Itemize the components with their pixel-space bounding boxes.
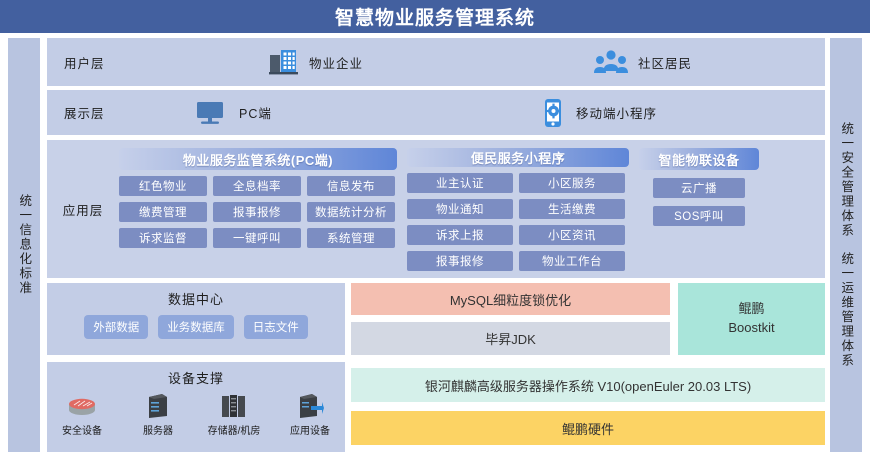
device-item-server: 服务器	[129, 393, 187, 437]
mobile-gear-icon	[542, 98, 564, 128]
page-title: 智慧物业服务管理系统	[335, 3, 535, 30]
user-layer-item-residents: 社区居民	[594, 49, 692, 75]
chip-column: 红色物业 缴费管理 诉求监督	[119, 176, 207, 248]
app-chip[interactable]: 诉求监督	[119, 228, 207, 248]
app-chip[interactable]: 缴费管理	[119, 202, 207, 222]
left-rail-label: 统一信息化标准	[18, 194, 31, 296]
app-group-miniprogram: 便民服务小程序 业主认证 物业通知 诉求上报 报事报修 小区服务 生活缴费 小区…	[407, 148, 629, 270]
page-title-bar: 智慧物业服务管理系统	[0, 0, 870, 33]
device-item-label: 应用设备	[290, 422, 330, 437]
display-layer-label: 展示层	[64, 103, 105, 122]
app-group-supervision-chips: 红色物业 缴费管理 诉求监督 全息档率 报事报修 一键呼叫 信息发布 数据统计分…	[119, 176, 397, 248]
app-chip[interactable]: 业主认证	[407, 173, 513, 193]
device-item-security: 安全设备	[53, 393, 111, 437]
user-layer-row: 用户层 物业企业	[47, 38, 825, 86]
app-chip[interactable]: 小区资讯	[519, 225, 625, 245]
chip-column: 业主认证 物业通知 诉求上报 报事报修	[407, 173, 513, 271]
application-groups: 物业服务监管系统(PC端) 红色物业 缴费管理 诉求监督 全息档率 报事报修 一…	[119, 140, 825, 278]
chip-column: 云广播 SOS呼叫	[639, 176, 759, 226]
device-item-storage: 存储器/机房	[205, 393, 263, 437]
storage-rack-icon	[219, 393, 249, 419]
device-item-label: 服务器	[143, 422, 173, 437]
user-layer-item-enterprise: 物业企业	[269, 48, 363, 76]
server-icon	[145, 393, 171, 419]
application-layer-label-box: 应用层	[47, 140, 119, 278]
data-center-items: 外部数据 业务数据库 日志文件	[84, 315, 308, 339]
chip-column: 信息发布 数据统计分析 系统管理	[307, 176, 395, 248]
app-chip[interactable]: 一键呼叫	[213, 228, 301, 248]
app-chip[interactable]: 诉求上报	[407, 225, 513, 245]
device-support-title: 设备支撑	[168, 368, 224, 387]
hardware-bar: 鲲鹏硬件	[351, 411, 825, 445]
application-layer-row: 应用层 物业服务监管系统(PC端) 红色物业 缴费管理 诉求监督 全息档率 报事…	[47, 140, 825, 278]
app-group-miniprogram-chips: 业主认证 物业通知 诉求上报 报事报修 小区服务 生活缴费 小区资讯 物业工作台	[407, 173, 629, 271]
data-center-item[interactable]: 外部数据	[84, 315, 148, 339]
device-item-label: 存储器/机房	[208, 422, 261, 437]
left-rail-standards: 统一信息化标准	[8, 38, 40, 452]
device-support-items: 安全设备 服务器	[53, 393, 339, 437]
app-chip[interactable]: 物业通知	[407, 199, 513, 219]
mysql-optimization-bar: MySQL细粒度锁优化	[351, 283, 670, 315]
right-rail-label-security: 统一安全管理体系	[840, 122, 853, 238]
app-group-iot-chips: 云广播 SOS呼叫	[639, 176, 759, 226]
right-rail-governance: 统一安全管理体系 统一运维管理体系	[830, 38, 862, 452]
data-center-item[interactable]: 业务数据库	[158, 315, 234, 339]
app-chip[interactable]: 红色物业	[119, 176, 207, 196]
app-chip[interactable]: 报事报修	[213, 202, 301, 222]
people-icon	[594, 49, 628, 75]
chip-column: 小区服务 生活缴费 小区资讯 物业工作台	[519, 173, 625, 271]
application-layer-label: 应用层	[63, 200, 104, 219]
app-chip[interactable]: 生活缴费	[519, 199, 625, 219]
display-layer-row: 展示层 PC端	[47, 90, 825, 135]
app-group-iot-title: 智能物联设备	[639, 148, 759, 170]
user-layer-label: 用户层	[64, 53, 105, 72]
app-group-supervision: 物业服务监管系统(PC端) 红色物业 缴费管理 诉求监督 全息档率 报事报修 一…	[119, 148, 397, 270]
building-icon	[269, 48, 299, 76]
data-center-block: 数据中心 外部数据 业务数据库 日志文件	[47, 283, 345, 355]
router-icon	[65, 393, 99, 419]
app-chip[interactable]: 云广播	[653, 178, 745, 198]
boostkit-line1: 鲲鹏	[728, 300, 774, 319]
app-chip[interactable]: 系统管理	[307, 228, 395, 248]
app-chip[interactable]: 信息发布	[307, 176, 395, 196]
app-chip[interactable]: 全息档率	[213, 176, 301, 196]
data-center-item[interactable]: 日志文件	[244, 315, 308, 339]
kunpeng-boostkit-box: 鲲鹏 Boostkit	[678, 283, 825, 355]
data-center-title: 数据中心	[168, 289, 224, 308]
operating-system-bar: 银河麒麟高级服务器操作系统 V10(openEuler 20.03 LTS)	[351, 368, 825, 402]
device-item-label: 安全设备	[62, 422, 102, 437]
display-layer-item-mobile: 移动端小程序	[542, 98, 657, 128]
app-chip[interactable]: 物业工作台	[519, 251, 625, 271]
app-chip[interactable]: 小区服务	[519, 173, 625, 193]
display-layer-pc-label: PC端	[239, 103, 272, 122]
architecture-diagram: 智慧物业服务管理系统 统一信息化标准 统一安全管理体系 统一运维管理体系 用户层	[0, 0, 870, 457]
user-layer-enterprise-label: 物业企业	[309, 53, 363, 72]
device-item-application: 应用设备	[281, 393, 339, 437]
app-chip[interactable]: 数据统计分析	[307, 202, 395, 222]
app-group-supervision-title: 物业服务监管系统(PC端)	[119, 148, 397, 170]
bisheng-jdk-bar: 毕昇JDK	[351, 322, 670, 355]
monitor-icon	[195, 100, 225, 126]
chip-column: 全息档率 报事报修 一键呼叫	[213, 176, 301, 248]
app-group-iot: 智能物联设备 云广播 SOS呼叫	[639, 148, 759, 270]
app-chip[interactable]: 报事报修	[407, 251, 513, 271]
device-support-block: 设备支撑 安全设备	[47, 362, 345, 452]
app-device-icon	[296, 393, 324, 419]
right-rail-label-operations: 统一运维管理体系	[840, 252, 853, 368]
display-layer-mobile-label: 移动端小程序	[576, 103, 657, 122]
user-layer-residents-label: 社区居民	[638, 53, 692, 72]
boostkit-line2: Boostkit	[728, 319, 774, 338]
app-chip[interactable]: SOS呼叫	[653, 206, 745, 226]
display-layer-item-pc: PC端	[195, 100, 272, 126]
app-group-miniprogram-title: 便民服务小程序	[407, 148, 629, 167]
